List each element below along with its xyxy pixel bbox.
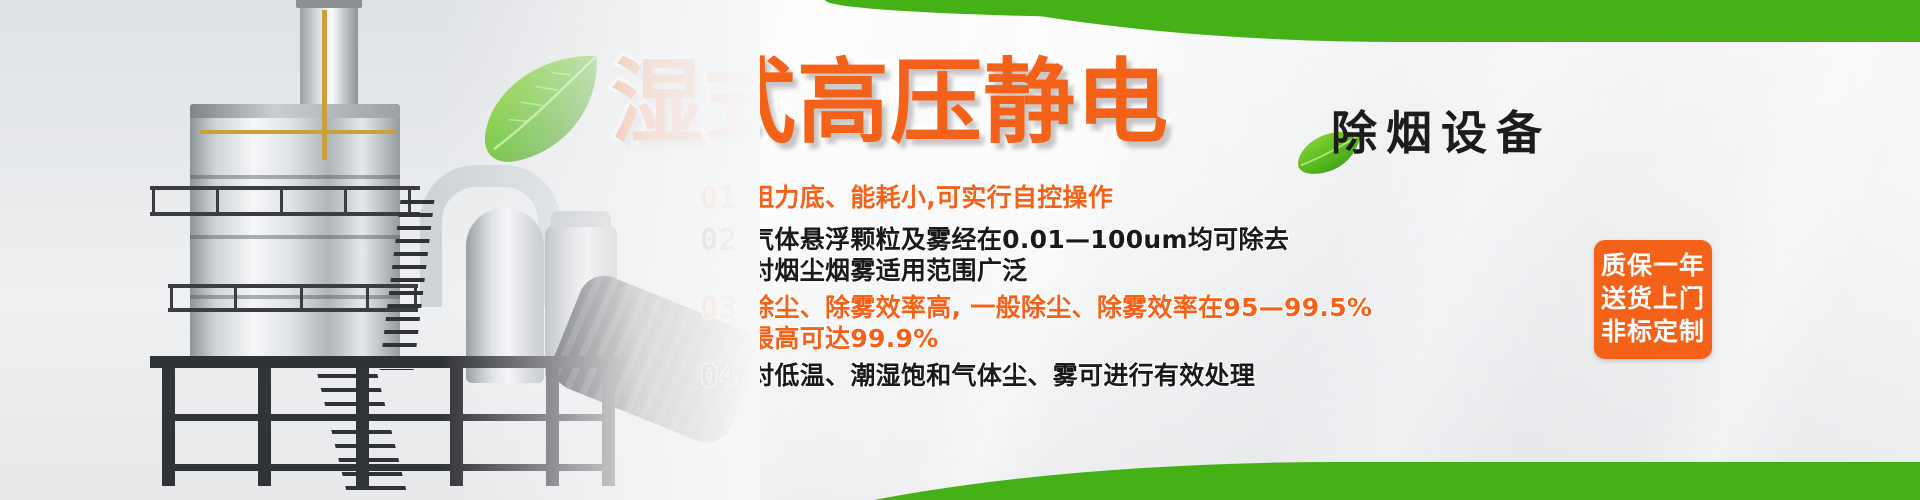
photo-fade-mask xyxy=(0,0,760,500)
feature-item-02: 02 气体悬浮颗粒及雾经在0.01—100um均可除去 对烟尘烟雾适用范围广泛 xyxy=(700,224,1320,286)
feature-text-line2: 对烟尘烟雾适用范围广泛 xyxy=(749,255,1289,286)
industrial-scrubber-photo xyxy=(0,0,760,500)
feature-text: 除尘、除雾效率高, 一般除尘、除雾效率在95—99.5% xyxy=(749,292,1372,323)
feature-item-01: 01 阻力底、能耗小,可实行自控操作 xyxy=(700,182,1320,216)
badge-line-delivery: 送货上门 xyxy=(1594,282,1712,315)
feature-text: 对低温、潮湿饱和气体尘、雾可进行有效处理 xyxy=(749,360,1255,391)
feature-item-03: 03 除尘、除雾效率高, 一般除尘、除雾效率在95—99.5% 最高可达99.9… xyxy=(700,292,1320,354)
promo-banner: 湿式高压静电 除烟设备 01 阻力底、能耗小,可实行自控操作 02 气体悬浮颗粒… xyxy=(0,0,1920,500)
feature-text: 气体悬浮颗粒及雾经在0.01—100um均可除去 xyxy=(749,224,1289,255)
badge-line-warranty: 质保一年 xyxy=(1594,249,1712,282)
badge-line-custom: 非标定制 xyxy=(1594,315,1712,348)
headline-sub: 除烟设备 xyxy=(1331,106,1551,160)
feature-list: 01 阻力底、能耗小,可实行自控操作 02 气体悬浮颗粒及雾经在0.01—100… xyxy=(700,182,1320,398)
service-badge[interactable]: 质保一年 送货上门 非标定制 xyxy=(1594,240,1712,359)
feature-item-04: 04 对低温、潮湿饱和气体尘、雾可进行有效处理 xyxy=(700,360,1320,394)
feature-text-line2: 最高可达99.9% xyxy=(749,323,1372,354)
feature-text: 阻力底、能耗小,可实行自控操作 xyxy=(749,182,1113,213)
